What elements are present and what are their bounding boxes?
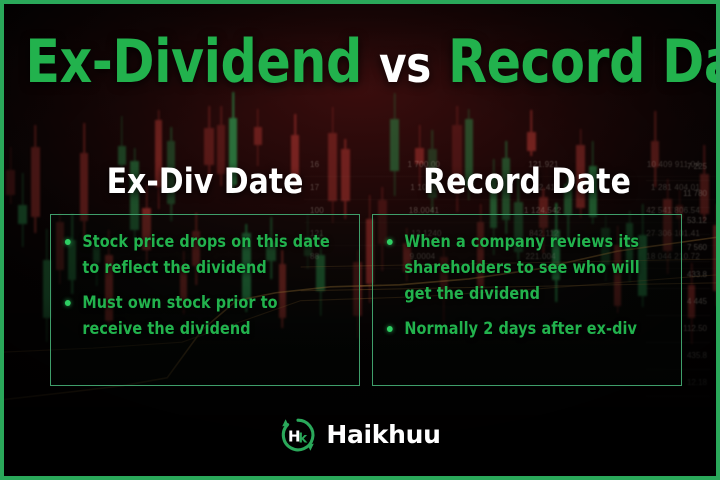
- list-item: Normally 2 days after ex-div: [383, 316, 660, 342]
- list-item: Stock price drops on this date to reflec…: [61, 229, 338, 281]
- bullet-list-record-date: When a company reviews its shareholders …: [383, 229, 669, 342]
- title-part-one: Ex-Dividend: [25, 27, 361, 97]
- bullet-box-ex-div-date: Stock price drops on this date to reflec…: [50, 214, 360, 386]
- list-item: Must own stock prior to receive the divi…: [61, 290, 338, 342]
- column-ex-div-date: Ex-Div Date Stock price drops on this da…: [50, 162, 360, 386]
- heading-ex-div-date: Ex-Div Date: [58, 162, 353, 202]
- heading-record-date: Record Date: [380, 162, 675, 202]
- content-layer: Ex-Dividend vs Record Date Ex-Div Date S…: [4, 4, 716, 476]
- bullet-box-record-date: When a company reviews its shareholders …: [372, 214, 682, 386]
- logo-circle-arrow-icon: H k: [279, 416, 317, 454]
- infographic-poster: 161 700.00121.92110 409 911.04171 100.00…: [0, 0, 720, 480]
- bullet-list-ex-div-date: Stock price drops on this date to reflec…: [61, 229, 347, 342]
- logo-wordmark: Haikhuu: [326, 416, 440, 454]
- svg-text:k: k: [299, 432, 308, 447]
- page-title: Ex-Dividend vs Record Date: [25, 30, 694, 97]
- brand-logo: H k Haikhuu: [4, 416, 716, 454]
- list-item: When a company reviews its shareholders …: [383, 229, 660, 307]
- title-part-two: Record Date: [448, 27, 720, 97]
- column-record-date: Record Date When a company reviews its s…: [372, 162, 682, 386]
- title-connector: vs: [379, 36, 431, 94]
